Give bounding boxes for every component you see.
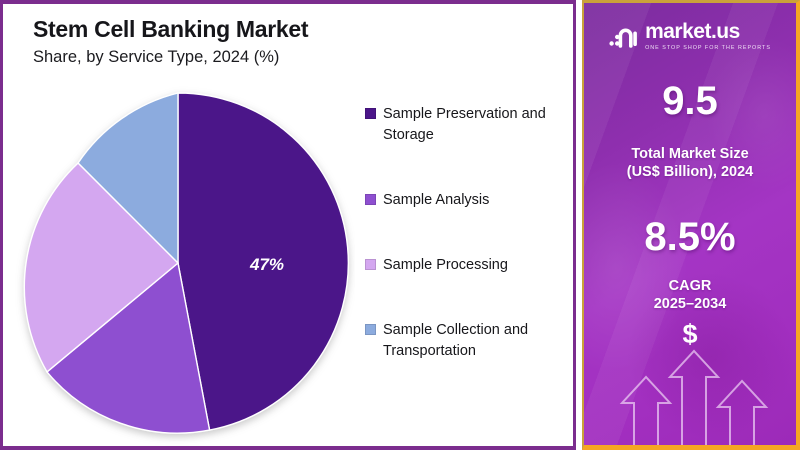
legend-swatch-icon	[365, 108, 376, 119]
pie-slice-label-47: 47%	[249, 255, 284, 274]
market-size-caption: Total Market Size (US$ Billion), 2024	[584, 145, 796, 181]
legend-item-sample-analysis[interactable]: Sample Analysis	[365, 190, 570, 211]
logo-text: market.us	[645, 21, 740, 42]
market-size-caption-line1: Total Market Size	[584, 145, 796, 163]
market-size-value: 9.5	[584, 81, 796, 121]
stats-panel: market.us ONE STOP SHOP FOR THE REPORTS …	[582, 0, 800, 450]
chart-panel: Stem Cell Banking Market Share, by Servi…	[0, 0, 576, 450]
pie-chart-svg: 47%	[5, 80, 355, 448]
pie-chart: 47%	[5, 80, 355, 448]
cagr-caption-line1: CAGR	[584, 277, 796, 295]
legend-item-label: Sample Processing	[383, 255, 508, 276]
legend-item-label: Sample Analysis	[383, 190, 489, 211]
cagr-caption: CAGR 2025–2034	[584, 277, 796, 313]
brand-logo[interactable]: market.us ONE STOP SHOP FOR THE REPORTS	[584, 21, 796, 51]
chart-subtitle: Share, by Service Type, 2024 (%)	[33, 48, 279, 67]
logo-tagline: ONE STOP SHOP FOR THE REPORTS	[645, 45, 771, 51]
legend-item-label: Sample Collection and Transportation	[383, 320, 570, 362]
legend-item-sample-preservation-and-storage[interactable]: Sample Preservation and Storage	[365, 104, 570, 146]
legend-item-label: Sample Preservation and Storage	[383, 104, 570, 146]
legend-swatch-icon	[365, 259, 376, 270]
growth-arrows-icon	[584, 335, 800, 445]
infographic-screen: Stem Cell Banking Market Share, by Servi…	[0, 0, 800, 450]
legend-item-sample-processing[interactable]: Sample Processing	[365, 255, 570, 276]
market-size-caption-line2: (US$ Billion), 2024	[584, 163, 796, 181]
legend-swatch-icon	[365, 324, 376, 335]
legend-swatch-icon	[365, 194, 376, 205]
market-us-logo-icon	[609, 23, 639, 49]
legend: Sample Preservation and Storage Sample A…	[365, 104, 570, 406]
legend-item-sample-collection-and-transportation[interactable]: Sample Collection and Transportation	[365, 320, 570, 362]
cagr-caption-line2: 2025–2034	[584, 295, 796, 313]
page-title: Stem Cell Banking Market	[33, 16, 308, 43]
cagr-value: 8.5%	[584, 217, 796, 257]
